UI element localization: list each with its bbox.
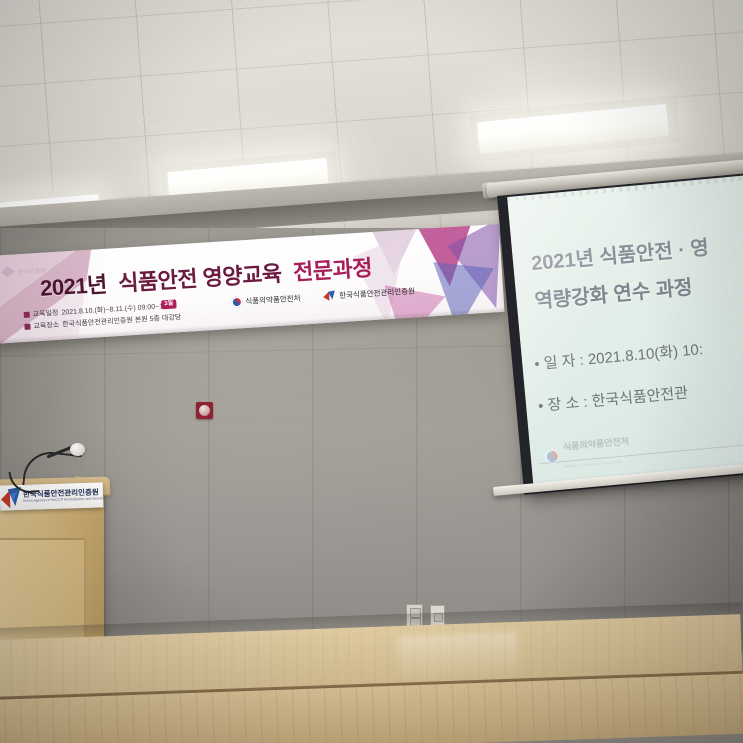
banner-venue-label: 교육장소 xyxy=(33,320,59,332)
projector-screen-frame: 2021년 식품안전 · 영 역량강화 연수 과정 • 일 자 : 2021.8… xyxy=(497,173,743,495)
banner-schedule-label: 교육일정 xyxy=(32,308,58,320)
conference-hall-photo: 한국인증원 2021년 식품안전 영양교육 전문과정 교육일정 2021.8.1… xyxy=(0,0,743,743)
projector-screen-surface: 2021년 식품안전 · 영 역량강화 연수 과정 • 일 자 : 2021.8… xyxy=(507,175,743,484)
slide-footer-kr-label: 식품의약품안전처 xyxy=(563,436,630,452)
government-emblem-icon xyxy=(231,296,243,308)
bullet-square-icon xyxy=(24,324,30,330)
slide-bullet-place: • 장 소 : 한국식품안전관 xyxy=(537,382,689,417)
fire-alarm-bell-dome xyxy=(199,405,210,416)
banner-duration-badge: 3일 xyxy=(161,299,176,309)
banner-org-primary: 식품의약품안전처 xyxy=(231,293,301,308)
microphone-windscreen-icon xyxy=(70,443,85,456)
slide-title-line-1: 2021년 식품안전 · 영 xyxy=(530,231,710,276)
haccp-logo-icon xyxy=(323,290,337,302)
podium-nameplate-en: Korea Agency of HACCP Accreditation and … xyxy=(23,497,103,504)
bullet-square-icon xyxy=(24,312,30,318)
banner-title-accent: 전문과정 xyxy=(292,255,372,285)
fire-alarm-icon xyxy=(196,402,213,419)
stage-floor-reflection xyxy=(398,632,520,686)
banner-title-year: 2021년 xyxy=(39,272,107,301)
banner-title-main: 식품안전 영양교육 xyxy=(118,261,283,296)
slide-title-line-2: 역량강화 연수 과정 xyxy=(533,271,693,314)
banner-org-primary-label: 식품의약품안전처 xyxy=(245,293,301,307)
slide-footer-logo: 식품의약품안전처 Ministry of Food and Drug Safet… xyxy=(543,431,631,475)
slide-bullet-date: • 일 자 : 2021.8.10(화) 10: xyxy=(533,338,703,374)
